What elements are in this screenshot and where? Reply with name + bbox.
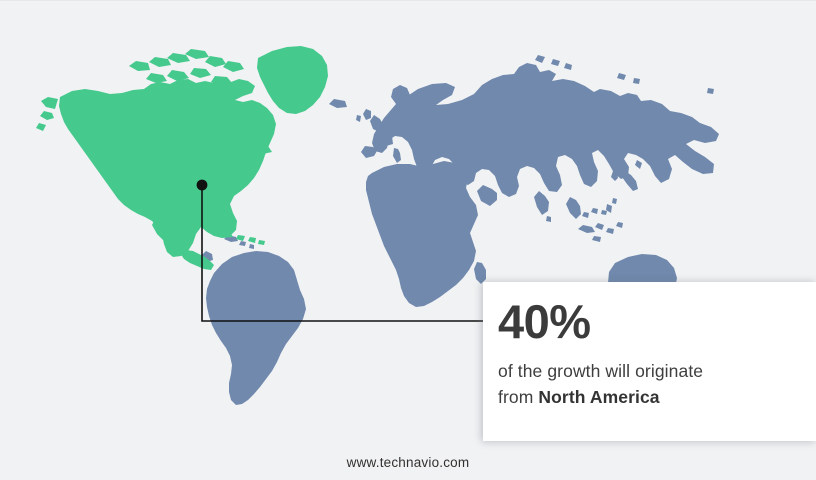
region-southeast-asia xyxy=(566,197,581,219)
region-sri-lanka xyxy=(546,216,551,222)
stat-description-line-2: from North America xyxy=(498,384,816,410)
map-region-north-america xyxy=(36,46,328,270)
region-greenland xyxy=(257,46,328,114)
region-africa xyxy=(366,161,478,307)
stat-description-line-1: of the growth will originate xyxy=(498,358,816,384)
region-alaska xyxy=(36,97,58,131)
region-arabia xyxy=(477,185,497,206)
region-italy xyxy=(393,148,401,163)
region-india xyxy=(534,191,549,215)
region-philippines xyxy=(606,198,617,213)
stat-value: 40% xyxy=(498,296,816,348)
footer-url: www.technavio.com xyxy=(0,455,816,470)
stat-line-2-region: North America xyxy=(538,387,659,407)
region-north-america-main xyxy=(59,79,276,257)
region-iceland xyxy=(329,99,347,108)
infographic-canvas: 40% of the growth will originate from No… xyxy=(0,0,816,480)
region-british-isles xyxy=(356,109,371,122)
stat-callout-card: 40% of the growth will originate from No… xyxy=(483,282,816,441)
region-madagascar xyxy=(474,262,486,284)
region-indonesia xyxy=(578,208,623,242)
stat-line-2-prefix: from xyxy=(498,387,538,407)
region-south-america xyxy=(206,251,306,405)
